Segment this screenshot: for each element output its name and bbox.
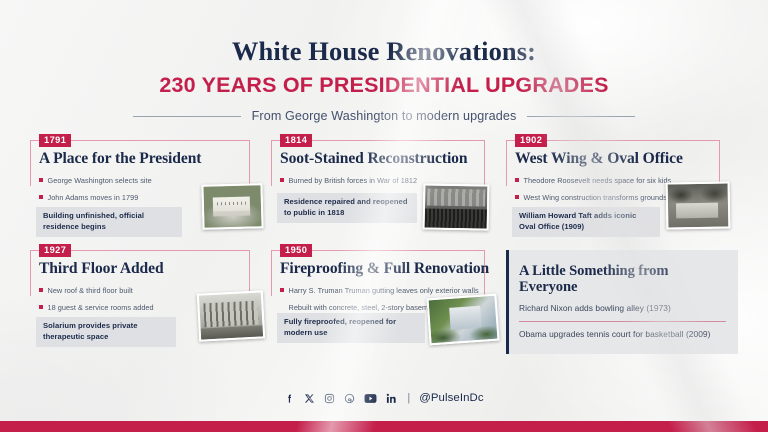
timeline-card-1791[interactable]: 1791 A Place for the President George Wa…: [30, 140, 268, 244]
highlight-callout: Building unfinished, official residence …: [36, 207, 182, 237]
page-title: White House Renovations:: [0, 36, 768, 67]
card-frame-right: [249, 140, 250, 186]
instagram-icon[interactable]: [324, 393, 335, 404]
x-twitter-icon[interactable]: [304, 393, 315, 404]
bullet-text: Rebuilt with concrete, steel, 2-story ba…: [289, 303, 439, 313]
white-house-aerial-photo: [201, 183, 263, 230]
list-item: Harry S. Truman Truman gutting leaves on…: [280, 286, 479, 296]
footer-separator: |: [407, 392, 410, 404]
card-accent-bar: [506, 250, 509, 354]
list-item: New roof & third floor built: [39, 286, 154, 296]
bullet-text: West Wing construction transforms ground…: [524, 193, 667, 203]
card-frame-left: [506, 140, 507, 186]
bullet-square-icon: [280, 305, 284, 309]
list-item: Obama upgrades tennis court for basketba…: [519, 322, 726, 340]
header: White House Renovations: 230 YEARS OF PR…: [0, 36, 768, 123]
timeline-card-1902[interactable]: 1902 West Wing & Oval Office Theodore Ro…: [506, 140, 738, 244]
bullet-list: Burned by British forces in War of 1812: [280, 176, 417, 193]
bullet-text: 18 guest & service rooms added: [48, 303, 154, 313]
bullet-square-icon: [280, 178, 284, 182]
card-frame-left: [271, 140, 272, 186]
card-title: Third Floor Added: [39, 260, 164, 278]
year-badge: 1791: [39, 134, 71, 147]
bullet-square-icon: [39, 195, 43, 199]
bullet-square-icon: [280, 288, 284, 292]
modern-white-house-photo: [426, 294, 499, 346]
timeline-card-1814[interactable]: 1814 Soot-Stained Reconstruction Burned …: [271, 140, 503, 244]
footer: | @PulseInDc: [0, 392, 768, 404]
year-badge: 1927: [39, 244, 71, 257]
timeline-grid: 1791 A Place for the President George Wa…: [30, 140, 738, 354]
year-badge: 1814: [280, 134, 312, 147]
year-badge: 1950: [280, 244, 312, 257]
tagline-row: From George Washington to modern upgrade…: [0, 109, 768, 123]
card-title: West Wing & Oval Office: [515, 150, 683, 168]
list-item: West Wing construction transforms ground…: [515, 193, 671, 203]
highlight-callout: William Howard Taft adds iconic Oval Off…: [512, 207, 660, 237]
list-item: Theodore Roosevelt needs space for six k…: [515, 176, 671, 186]
bullet-text: Theodore Roosevelt needs space for six k…: [524, 176, 672, 186]
infographic-page: White House Renovations: 230 YEARS OF PR…: [0, 0, 768, 432]
bottom-accent-bar: [0, 421, 768, 432]
west-wing-construction-photo: [666, 181, 731, 229]
bullet-text: Burned by British forces in War of 1812: [289, 176, 418, 186]
list-item: Richard Nixon adds bowling alley (1973): [519, 296, 726, 314]
list-item: John Adams moves in 1799: [39, 193, 152, 203]
timeline-card-everyone[interactable]: A Little Something from Everyone Richard…: [506, 250, 738, 354]
bullet-square-icon: [39, 288, 43, 292]
social-handle: @PulseInDc: [419, 392, 483, 404]
card-frame-right: [484, 140, 485, 186]
tagline-rule-right: [527, 116, 635, 117]
card-title: A Place for the President: [39, 150, 201, 168]
card-frame-right: [719, 140, 720, 186]
bullet-list: New roof & third floor built 18 guest & …: [39, 286, 154, 320]
page-subtitle: 230 YEARS OF PRESIDENTIAL UPGRADES: [0, 73, 768, 98]
tagline: From George Washington to modern upgrade…: [252, 109, 517, 123]
bullet-text: John Adams moves in 1799: [48, 193, 139, 203]
card-title: Fireproofing & Full Renovation: [280, 260, 489, 278]
list-item: Burned by British forces in War of 1812: [280, 176, 417, 186]
bullet-square-icon: [515, 178, 519, 182]
card-frame-right: [249, 250, 250, 296]
facebook-icon[interactable]: [284, 393, 295, 404]
card-frame-left: [30, 140, 31, 186]
linkedin-icon[interactable]: [386, 393, 397, 404]
card-frame-left: [271, 250, 272, 296]
threads-icon[interactable]: [344, 393, 355, 404]
card-frame-left: [30, 250, 31, 296]
year-badge: 1902: [515, 134, 547, 147]
bullet-list: George Washington selects site John Adam…: [39, 176, 152, 210]
tagline-rule-left: [133, 116, 241, 117]
third-floor-construction-photo: [197, 290, 265, 341]
historic-crowd-photo: [423, 183, 490, 230]
social-links: [284, 393, 397, 404]
list-item: George Washington selects site: [39, 176, 152, 186]
bullet-square-icon: [39, 178, 43, 182]
list-item: 18 guest & service rooms added: [39, 303, 154, 313]
card-title: A Little Something from Everyone: [519, 263, 726, 296]
timeline-card-1927[interactable]: 1927 Third Floor Added New roof & third …: [30, 250, 268, 354]
card-title: Soot-Stained Reconstruction: [280, 150, 467, 168]
bullet-text: George Washington selects site: [48, 176, 152, 186]
youtube-icon[interactable]: [364, 393, 377, 404]
highlight-callout: Residence repaired and reopened to publi…: [277, 193, 417, 223]
bullet-square-icon: [515, 195, 519, 199]
highlight-callout: Solarium provides private therapeutic sp…: [36, 317, 176, 347]
bullet-text: New roof & third floor built: [48, 286, 133, 296]
bullet-square-icon: [39, 305, 43, 309]
bullet-list: Theodore Roosevelt needs space for six k…: [515, 176, 671, 210]
bullet-text: Harry S. Truman Truman gutting leaves on…: [289, 286, 479, 296]
highlight-callout: Fully fireproofed, reopened for modern u…: [277, 313, 425, 343]
timeline-card-1950[interactable]: 1950 Fireproofing & Full Renovation Harr…: [271, 250, 503, 354]
